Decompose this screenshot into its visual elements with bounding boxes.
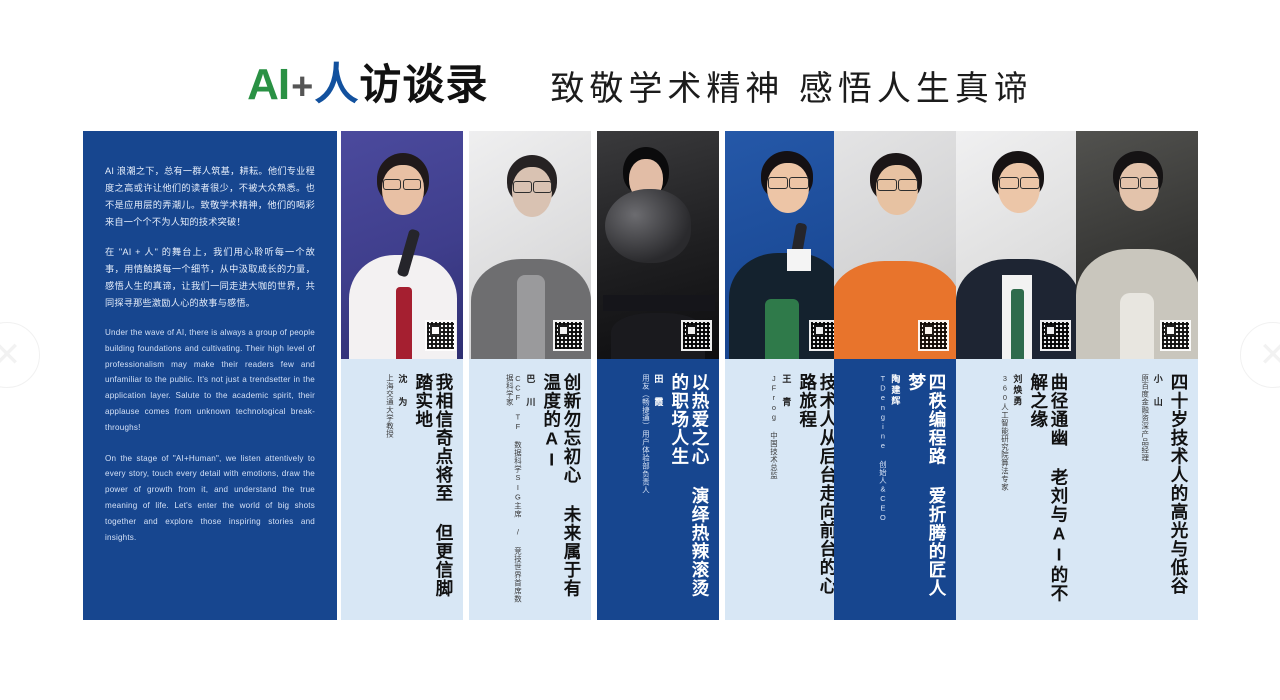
profile-photo-5	[834, 131, 956, 359]
profile-title-3: 以热爱之心 演绎热辣滚烫的职场人生	[669, 373, 710, 611]
intro-paragraph-cn-1: AI 浪潮之下，总有一群人筑基，耕耘。他们专业程度之高或许让他们的读者很少，不被…	[105, 163, 315, 231]
profile-affiliation-7: 原百度金融资深产品经理	[1141, 374, 1149, 462]
qr-code-5[interactable]	[918, 320, 949, 351]
profile-name-2: 巴 川	[524, 374, 537, 408]
profile-affiliation-4: JFrog 中国技术总监	[769, 374, 777, 480]
profile-title-4: 技术人从后台走向前台的心路旅程	[797, 373, 838, 611]
logo-text-ren: 人	[314, 63, 357, 107]
profile-meta-6: 刘焕勇 360人工智能研究院算法专家	[956, 374, 1024, 491]
brand-logo: AI + 人 访谈录	[247, 63, 488, 107]
profile-meta-5: 陶建辉 TDengine 创始人&CEO	[844, 374, 902, 523]
qr-code-1[interactable]	[425, 320, 456, 351]
profile-affiliation-3: 用友（畅捷通）用户体验部负责人	[641, 374, 649, 494]
profile-meta-2: 巴 川 CCF TF 数据科学SIG主席 / 竞技世界首席数据科学家	[469, 374, 537, 610]
logo-text-suffix: 访谈录	[359, 64, 488, 106]
profile-meta-3: 田 霞 用友（畅捷通）用户体验部负责人	[597, 374, 665, 494]
profile-meta-4: 王 青 JFrog 中国技术总监	[748, 374, 793, 480]
profile-info-4: 技术人从后台走向前台的心路旅程 王 青 JFrog 中国技术总监	[725, 359, 847, 620]
intro-paragraph-cn-2: 在 "AI + 人" 的舞台上，我们用心聆听每一个故事，用情触摸每一个细节，从中…	[105, 244, 315, 312]
profile-meta-7: 小 山 原百度金融资深产品经理	[1076, 374, 1165, 462]
intro-paragraph-en-2: On the stage of "AI+Human", we listen at…	[105, 451, 315, 546]
profile-card-1[interactable]: 我相信奇点将至 但更信脚踏实地 沈 为 上海交通大学教授	[341, 131, 463, 620]
logo-text-ai: AI	[247, 63, 289, 107]
qr-code-3[interactable]	[681, 320, 712, 351]
profile-name-3: 田 霞	[652, 374, 665, 408]
qr-code-2[interactable]	[553, 320, 584, 351]
profile-info-1: 我相信奇点将至 但更信脚踏实地 沈 为 上海交通大学教授	[341, 359, 463, 620]
profile-affiliation-1: 上海交通大学教授	[385, 374, 393, 438]
profile-card-6[interactable]: 曲径通幽 老刘与AI的不解之缘 刘焕勇 360人工智能研究院算法专家	[956, 131, 1078, 620]
poster-stage: AI 浪潮之下，总有一群人筑基，耕耘。他们专业程度之高或许让他们的读者很少，不被…	[0, 131, 1280, 620]
qr-code-7[interactable]	[1160, 320, 1191, 351]
profile-name-1: 沈 为	[396, 374, 409, 408]
profile-card-7[interactable]: 四十岁技术人的高光与低谷 小 山 原百度金融资深产品经理	[1076, 131, 1198, 620]
profile-title-6: 曲径通幽 老刘与AI的不解之缘	[1028, 373, 1069, 611]
profile-info-5: 四秩编程路 爱折腾的匠人梦 陶建辉 TDengine 创始人&CEO	[834, 359, 956, 620]
profile-photo-4	[725, 131, 847, 359]
profile-title-5: 四秩编程路 爱折腾的匠人梦	[906, 373, 947, 611]
profile-photo-2	[469, 131, 591, 359]
page-header: AI + 人 访谈录 致敬学术精神 感悟人生真谛	[0, 56, 1280, 114]
profile-card-5[interactable]: 四秩编程路 爱折腾的匠人梦 陶建辉 TDengine 创始人&CEO	[834, 131, 956, 620]
profile-photo-3	[597, 131, 719, 359]
profile-card-4[interactable]: 技术人从后台走向前台的心路旅程 王 青 JFrog 中国技术总监	[725, 131, 847, 620]
profile-affiliation-5: TDengine 创始人&CEO	[878, 374, 886, 523]
profile-photo-7	[1076, 131, 1198, 359]
profile-title-7: 四十岁技术人的高光与低谷	[1169, 373, 1189, 595]
intro-paragraph-en-1: Under the wave of AI, there is always a …	[105, 325, 315, 435]
profile-info-7: 四十岁技术人的高光与低谷 小 山 原百度金融资深产品经理	[1076, 359, 1198, 620]
profile-affiliation-6: 360人工智能研究院算法专家	[1000, 374, 1008, 491]
profile-name-6: 刘焕勇	[1011, 374, 1024, 407]
profile-card-3[interactable]: 以热爱之心 演绎热辣滚烫的职场人生 田 霞 用友（畅捷通）用户体验部负责人	[597, 131, 719, 620]
profile-info-3: 以热爱之心 演绎热辣滚烫的职场人生 田 霞 用友（畅捷通）用户体验部负责人	[597, 359, 719, 620]
intro-panel: AI 浪潮之下，总有一群人筑基，耕耘。他们专业程度之高或许让他们的读者很少，不被…	[83, 131, 337, 620]
qr-code-6[interactable]	[1040, 320, 1071, 351]
profile-info-6: 曲径通幽 老刘与AI的不解之缘 刘焕勇 360人工智能研究院算法专家	[956, 359, 1078, 620]
profile-title-2: 创新勿忘初心 未来属于有温度的AI	[541, 373, 582, 611]
profile-info-2: 创新勿忘初心 未来属于有温度的AI 巴 川 CCF TF 数据科学SIG主席 /…	[469, 359, 591, 620]
profile-name-5: 陶建辉	[889, 374, 902, 407]
profile-meta-1: 沈 为 上海交通大学教授	[341, 374, 409, 438]
profile-title-1: 我相信奇点将至 但更信脚踏实地	[413, 373, 454, 611]
profile-name-7: 小 山	[1152, 374, 1165, 408]
profile-card-2[interactable]: 创新勿忘初心 未来属于有温度的AI 巴 川 CCF TF 数据科学SIG主席 /…	[469, 131, 591, 620]
profile-name-4: 王 青	[780, 374, 793, 408]
profile-photo-6	[956, 131, 1078, 359]
page-tagline: 致敬学术精神 感悟人生真谛	[550, 61, 1032, 110]
profile-photo-1	[341, 131, 463, 359]
logo-plus-icon: +	[291, 68, 312, 106]
profile-affiliation-2: CCF TF 数据科学SIG主席 / 竞技世界首席数据科学家	[505, 374, 521, 610]
